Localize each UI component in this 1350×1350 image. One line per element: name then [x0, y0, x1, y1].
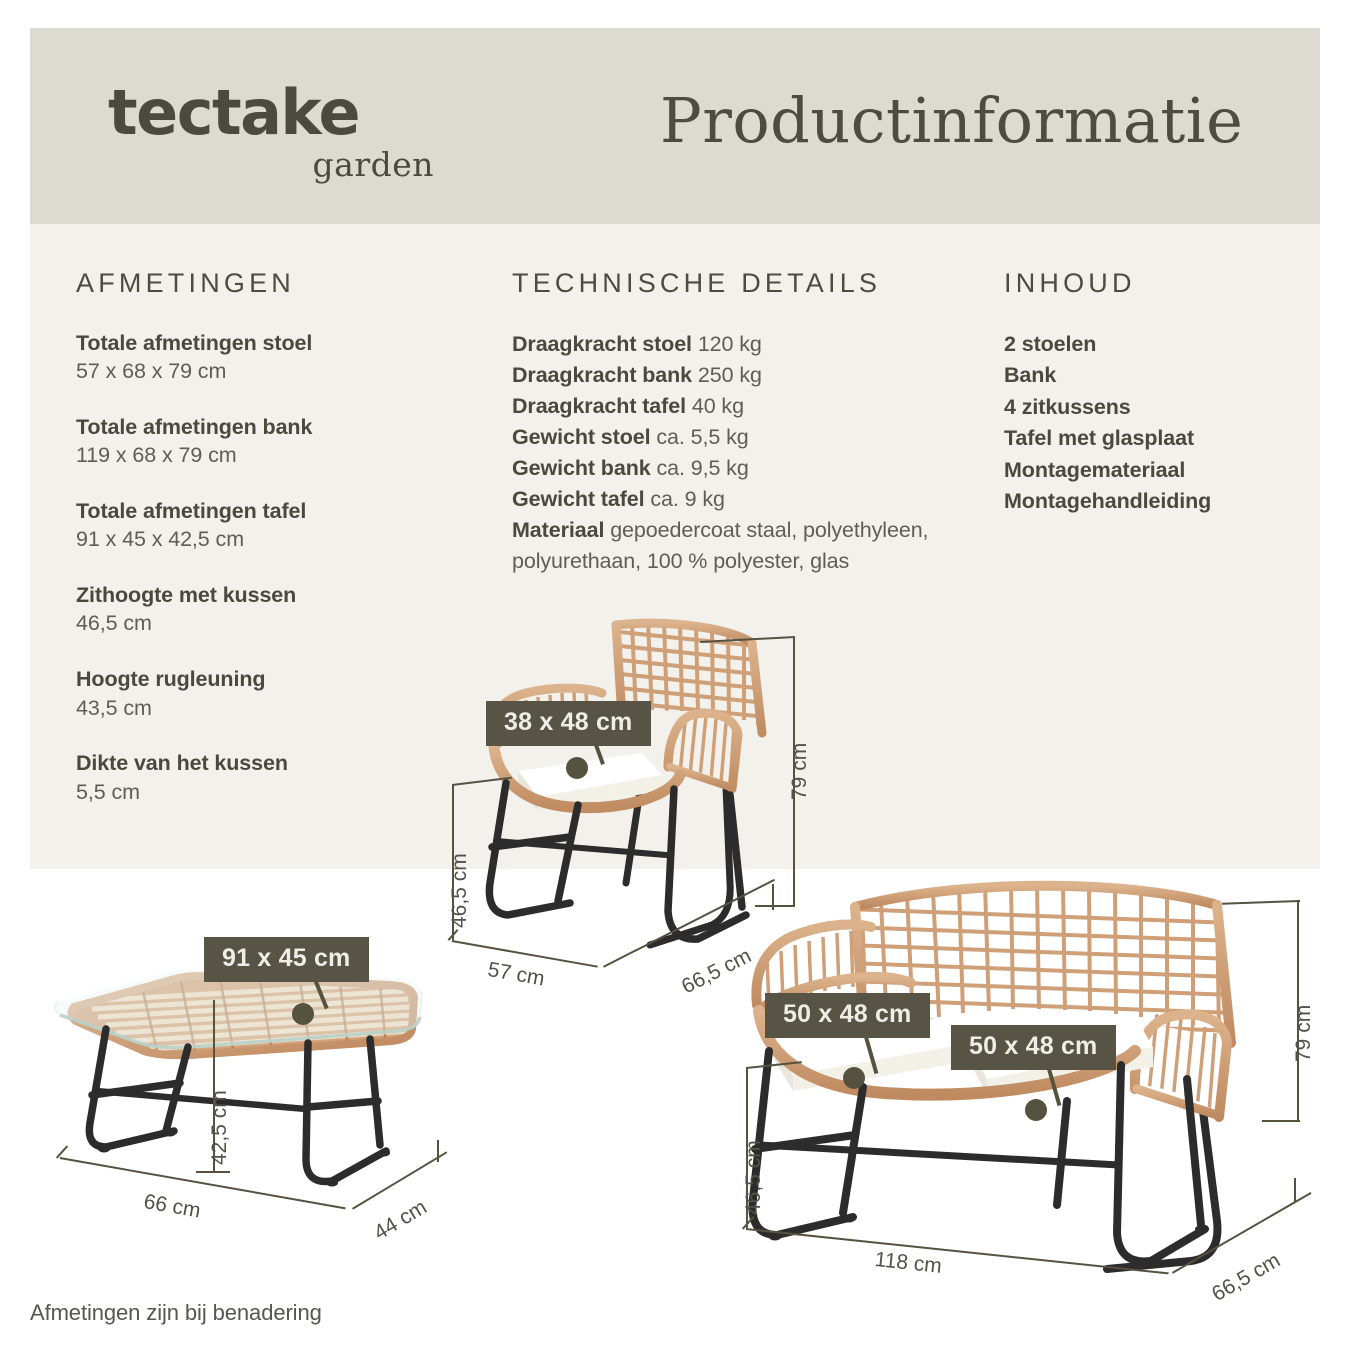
- page-title: Productinformatie: [660, 84, 1300, 157]
- contents-item: Bank: [1004, 360, 1304, 391]
- contents-item: 2 stoelen: [1004, 329, 1304, 360]
- dimension-value: 43,5 cm: [76, 694, 476, 724]
- column-heading-technical: TECHNISCHE DETAILS: [512, 268, 932, 299]
- dimension-value: 46,5 cm: [76, 609, 476, 639]
- dimension-entry: Totale afmetingen tafel 91 x 45 x 42,5 c…: [76, 497, 476, 555]
- dimension-value: 119 x 68 x 79 cm: [76, 441, 476, 471]
- spec-label: Draagkracht stoel: [512, 332, 692, 356]
- spec-label: Draagkracht tafel: [512, 394, 686, 418]
- chair-height-label: 79 cm: [788, 743, 812, 800]
- spec-line: Gewicht stoel ca. 5,5 kg: [512, 422, 932, 453]
- dimension-label: Totale afmetingen bank: [76, 413, 476, 441]
- spec-value: 40 kg: [692, 394, 744, 418]
- spec-value: 250 kg: [698, 363, 762, 387]
- bench-callout-right-dot: [1025, 1099, 1047, 1121]
- spec-line: Draagkracht stoel 120 kg: [512, 329, 932, 360]
- column-technical: TECHNISCHE DETAILS Draagkracht stoel 120…: [512, 268, 932, 577]
- spec-value: ca. 9,5 kg: [656, 456, 748, 480]
- spec-line: Draagkracht tafel 40 kg: [512, 391, 932, 422]
- product-info-sheet: tectake garden Productinformatie AFMETIN…: [0, 0, 1350, 1350]
- bench-illustration: [735, 865, 1315, 1275]
- spec-line: Materiaal gepoedercoat staal, polyethyle…: [512, 515, 932, 577]
- dimension-value: 91 x 45 x 42,5 cm: [76, 525, 476, 555]
- table-callout-badge: 91 x 45 cm: [204, 937, 369, 982]
- spec-line: Gewicht bank ca. 9,5 kg: [512, 453, 932, 484]
- table-callout-dot: [292, 1003, 314, 1025]
- dimension-entry: Totale afmetingen stoel 57 x 68 x 79 cm: [76, 329, 476, 387]
- brand-subline: garden: [108, 148, 438, 181]
- chair-seat-height-label: 46,5 cm: [448, 853, 472, 928]
- column-heading-contents: INHOUD: [1004, 268, 1304, 299]
- table-depth-tick-right: [437, 1140, 439, 1162]
- dimension-entry: Zithoogte met kussen 46,5 cm: [76, 581, 476, 639]
- column-dimensions: AFMETINGEN Totale afmetingen stoel 57 x …: [76, 268, 476, 833]
- table-illustration: [40, 955, 460, 1205]
- spec-label: Gewicht tafel: [512, 487, 645, 511]
- dimension-label: Dikte van het kussen: [76, 749, 476, 777]
- spec-label: Draagkracht bank: [512, 363, 692, 387]
- spec-value: ca. 5,5 kg: [656, 425, 748, 449]
- spec-line: Gewicht tafel ca. 9 kg: [512, 484, 932, 515]
- chair-legs-rear: [626, 787, 730, 945]
- contents-item: Montagemateriaal: [1004, 455, 1304, 486]
- dimension-value: 57 x 68 x 79 cm: [76, 357, 476, 387]
- brand-name: tectake: [108, 82, 438, 144]
- chair-callout-dot: [566, 757, 588, 779]
- dimension-value: 5,5 cm: [76, 778, 476, 808]
- figure-table: 91 x 45 cm: [40, 955, 460, 1205]
- column-contents: INHOUD 2 stoelen Bank 4 zitkussens Tafel…: [1004, 268, 1304, 517]
- dimension-label: Totale afmetingen stoel: [76, 329, 476, 357]
- bench-depth-tick-right: [1294, 1178, 1296, 1202]
- dimension-entry: Totale afmetingen bank 119 x 68 x 79 cm: [76, 413, 476, 471]
- dimension-label: Hoogte rugleuning: [76, 665, 476, 693]
- bench-callout-right-badge: 50 x 48 cm: [951, 1025, 1116, 1070]
- brand-logo: tectake garden: [108, 82, 438, 181]
- dimension-entry: Dikte van het kussen 5,5 cm: [76, 749, 476, 807]
- spec-label: Materiaal: [512, 518, 604, 542]
- spec-value: 120 kg: [698, 332, 762, 356]
- dimension-label: Zithoogte met kussen: [76, 581, 476, 609]
- bench-seat-height-label: 46,5 cm: [742, 1140, 766, 1215]
- chair-cross-brace: [496, 841, 666, 855]
- column-heading-dimensions: AFMETINGEN: [76, 268, 476, 299]
- spec-line: Draagkracht bank 250 kg: [512, 360, 932, 391]
- bench-callout-left-badge: 50 x 48 cm: [765, 993, 930, 1038]
- chair-callout-badge: 38 x 48 cm: [486, 701, 651, 746]
- table-height-label: 42,5 cm: [208, 1090, 232, 1165]
- figure-bench: 50 x 48 cm 50 x 48 cm: [735, 865, 1315, 1275]
- footer-note: Afmetingen zijn bij benadering: [30, 1300, 322, 1326]
- contents-item: 4 zitkussens: [1004, 392, 1304, 423]
- spec-label: Gewicht stoel: [512, 425, 650, 449]
- table-height-tick-bottom: [196, 1171, 230, 1173]
- spec-label: Gewicht bank: [512, 456, 651, 480]
- bench-height-tick-bottom: [1262, 1120, 1300, 1122]
- bench-callout-left-dot: [843, 1067, 865, 1089]
- contents-item: Tafel met glasplaat: [1004, 423, 1304, 454]
- dimension-label: Totale afmetingen tafel: [76, 497, 476, 525]
- dimension-entry: Hoogte rugleuning 43,5 cm: [76, 665, 476, 723]
- bench-height-label: 79 cm: [1292, 1005, 1316, 1062]
- spec-value: ca. 9 kg: [650, 487, 725, 511]
- contents-item: Montagehandleiding: [1004, 486, 1304, 517]
